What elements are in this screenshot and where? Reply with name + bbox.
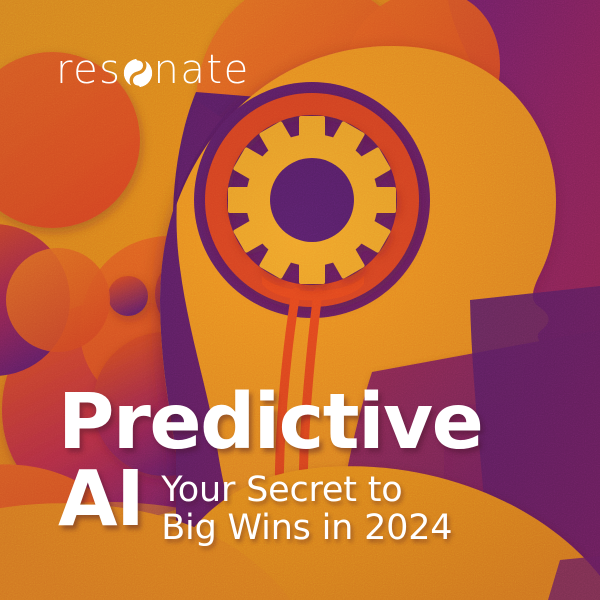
headline-block: Predictive AI Your Secret to Big Wins in… (58, 386, 558, 547)
headline-line-1: Predictive (58, 386, 558, 459)
headline-line-2-row: AI Your Secret to Big Wins in 2024 (58, 463, 558, 547)
brand-name-prefix: res (56, 50, 122, 90)
subtitle-line-1: Your Secret to (161, 463, 452, 509)
brand-logo[interactable]: res nate (56, 48, 250, 92)
subtitle-line-2: Big Wins in 2024 (161, 510, 452, 547)
headline-line-2: AI (58, 463, 143, 536)
subtitle-block: Your Secret to Big Wins in 2024 (161, 463, 452, 547)
brand-name-suffix: nate (154, 50, 250, 90)
poster-canvas: res nate Predictive AI Your Secret to (0, 0, 600, 600)
resonance-s-circle-icon (123, 58, 153, 88)
